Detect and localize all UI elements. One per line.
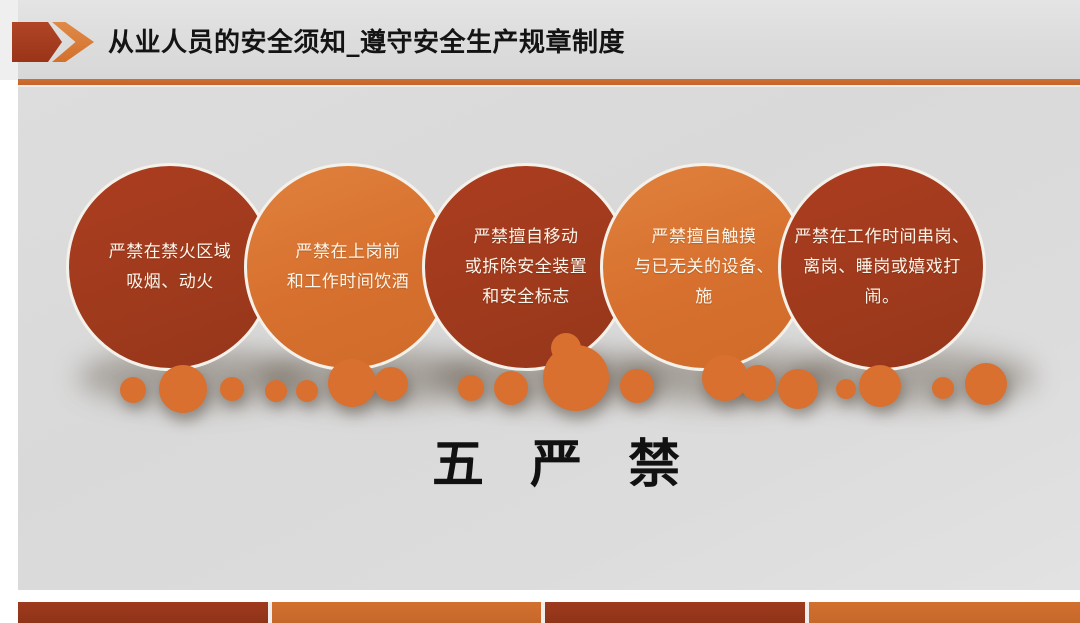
bubble	[120, 377, 146, 403]
circle-4-line-3: 施	[634, 282, 774, 312]
circle-4-line-1: 严禁擅自触摸	[634, 222, 774, 252]
headline-text: 五 严 禁	[432, 422, 694, 497]
bubble	[932, 377, 954, 399]
footer-bar	[18, 602, 1080, 623]
bubble	[740, 365, 776, 401]
page-title: 从业人员的安全须知_遵守安全生产规章制度	[108, 26, 625, 60]
circle-1-line-2: 吸烟、动火	[109, 267, 232, 297]
bubble	[778, 369, 818, 409]
circle-4-text: 严禁擅自触摸 与已无关的设备、 施	[634, 222, 774, 312]
bubble	[265, 380, 287, 402]
circle-3[interactable]: 严禁擅自移动 或拆除安全装置 和安全标志	[422, 163, 630, 371]
circle-3-line-3: 和安全标志	[465, 282, 588, 312]
circle-2-line-1: 严禁在上岗前	[287, 237, 410, 267]
footer-segment-2	[272, 602, 541, 623]
bubble	[220, 377, 244, 401]
slide-canvas: 从业人员的安全须知_遵守安全生产规章制度 严禁在禁火区域	[0, 0, 1080, 623]
bubble	[836, 379, 856, 399]
footer-segment-3	[545, 602, 805, 623]
circle-3-line-2: 或拆除安全装置	[465, 252, 588, 282]
circle-5-line-3: 闹。	[795, 282, 970, 312]
bubble	[494, 371, 528, 405]
circle-1-text: 严禁在禁火区域 吸烟、动火	[109, 237, 232, 297]
circle-5-line-2: 离岗、睡岗或嬉戏打	[795, 252, 970, 282]
chevron-dark-icon	[12, 22, 62, 62]
bubble	[159, 365, 207, 413]
circle-5[interactable]: 严禁在工作时间串岗、 离岗、睡岗或嬉戏打 闹。	[778, 163, 986, 371]
bubble	[965, 363, 1007, 405]
bubble	[296, 380, 318, 402]
circle-1[interactable]: 严禁在禁火区域 吸烟、动火	[66, 163, 274, 371]
circle-4-line-2: 与已无关的设备、	[634, 252, 774, 282]
bubble	[458, 375, 484, 401]
circle-3-line-1: 严禁擅自移动	[465, 222, 588, 252]
circle-5-line-1: 严禁在工作时间串岗、	[795, 222, 970, 252]
circle-3-text: 严禁擅自移动 或拆除安全装置 和安全标志	[465, 222, 588, 312]
circle-4[interactable]: 严禁擅自触摸 与已无关的设备、 施	[600, 163, 808, 371]
logo-chevrons	[12, 22, 96, 62]
circle-2-text: 严禁在上岗前 和工作时间饮酒	[287, 237, 410, 297]
bubble	[859, 365, 901, 407]
bubble	[620, 369, 654, 403]
footer-segment-1	[18, 602, 268, 623]
circle-2-line-2: 和工作时间饮酒	[287, 267, 410, 297]
slide-body: 严禁在禁火区域 吸烟、动火 严禁在上岗前 和工作时间饮酒 严禁擅自移动 或拆除安…	[18, 87, 1080, 590]
circle-5-text: 严禁在工作时间串岗、 离岗、睡岗或嬉戏打 闹。	[795, 222, 970, 312]
bubble	[551, 333, 581, 363]
bubble	[328, 359, 376, 407]
circle-1-line-1: 严禁在禁火区域	[109, 237, 232, 267]
circle-2[interactable]: 严禁在上岗前 和工作时间饮酒	[244, 163, 452, 371]
footer-segment-4	[809, 602, 1080, 623]
bubble	[374, 367, 408, 401]
